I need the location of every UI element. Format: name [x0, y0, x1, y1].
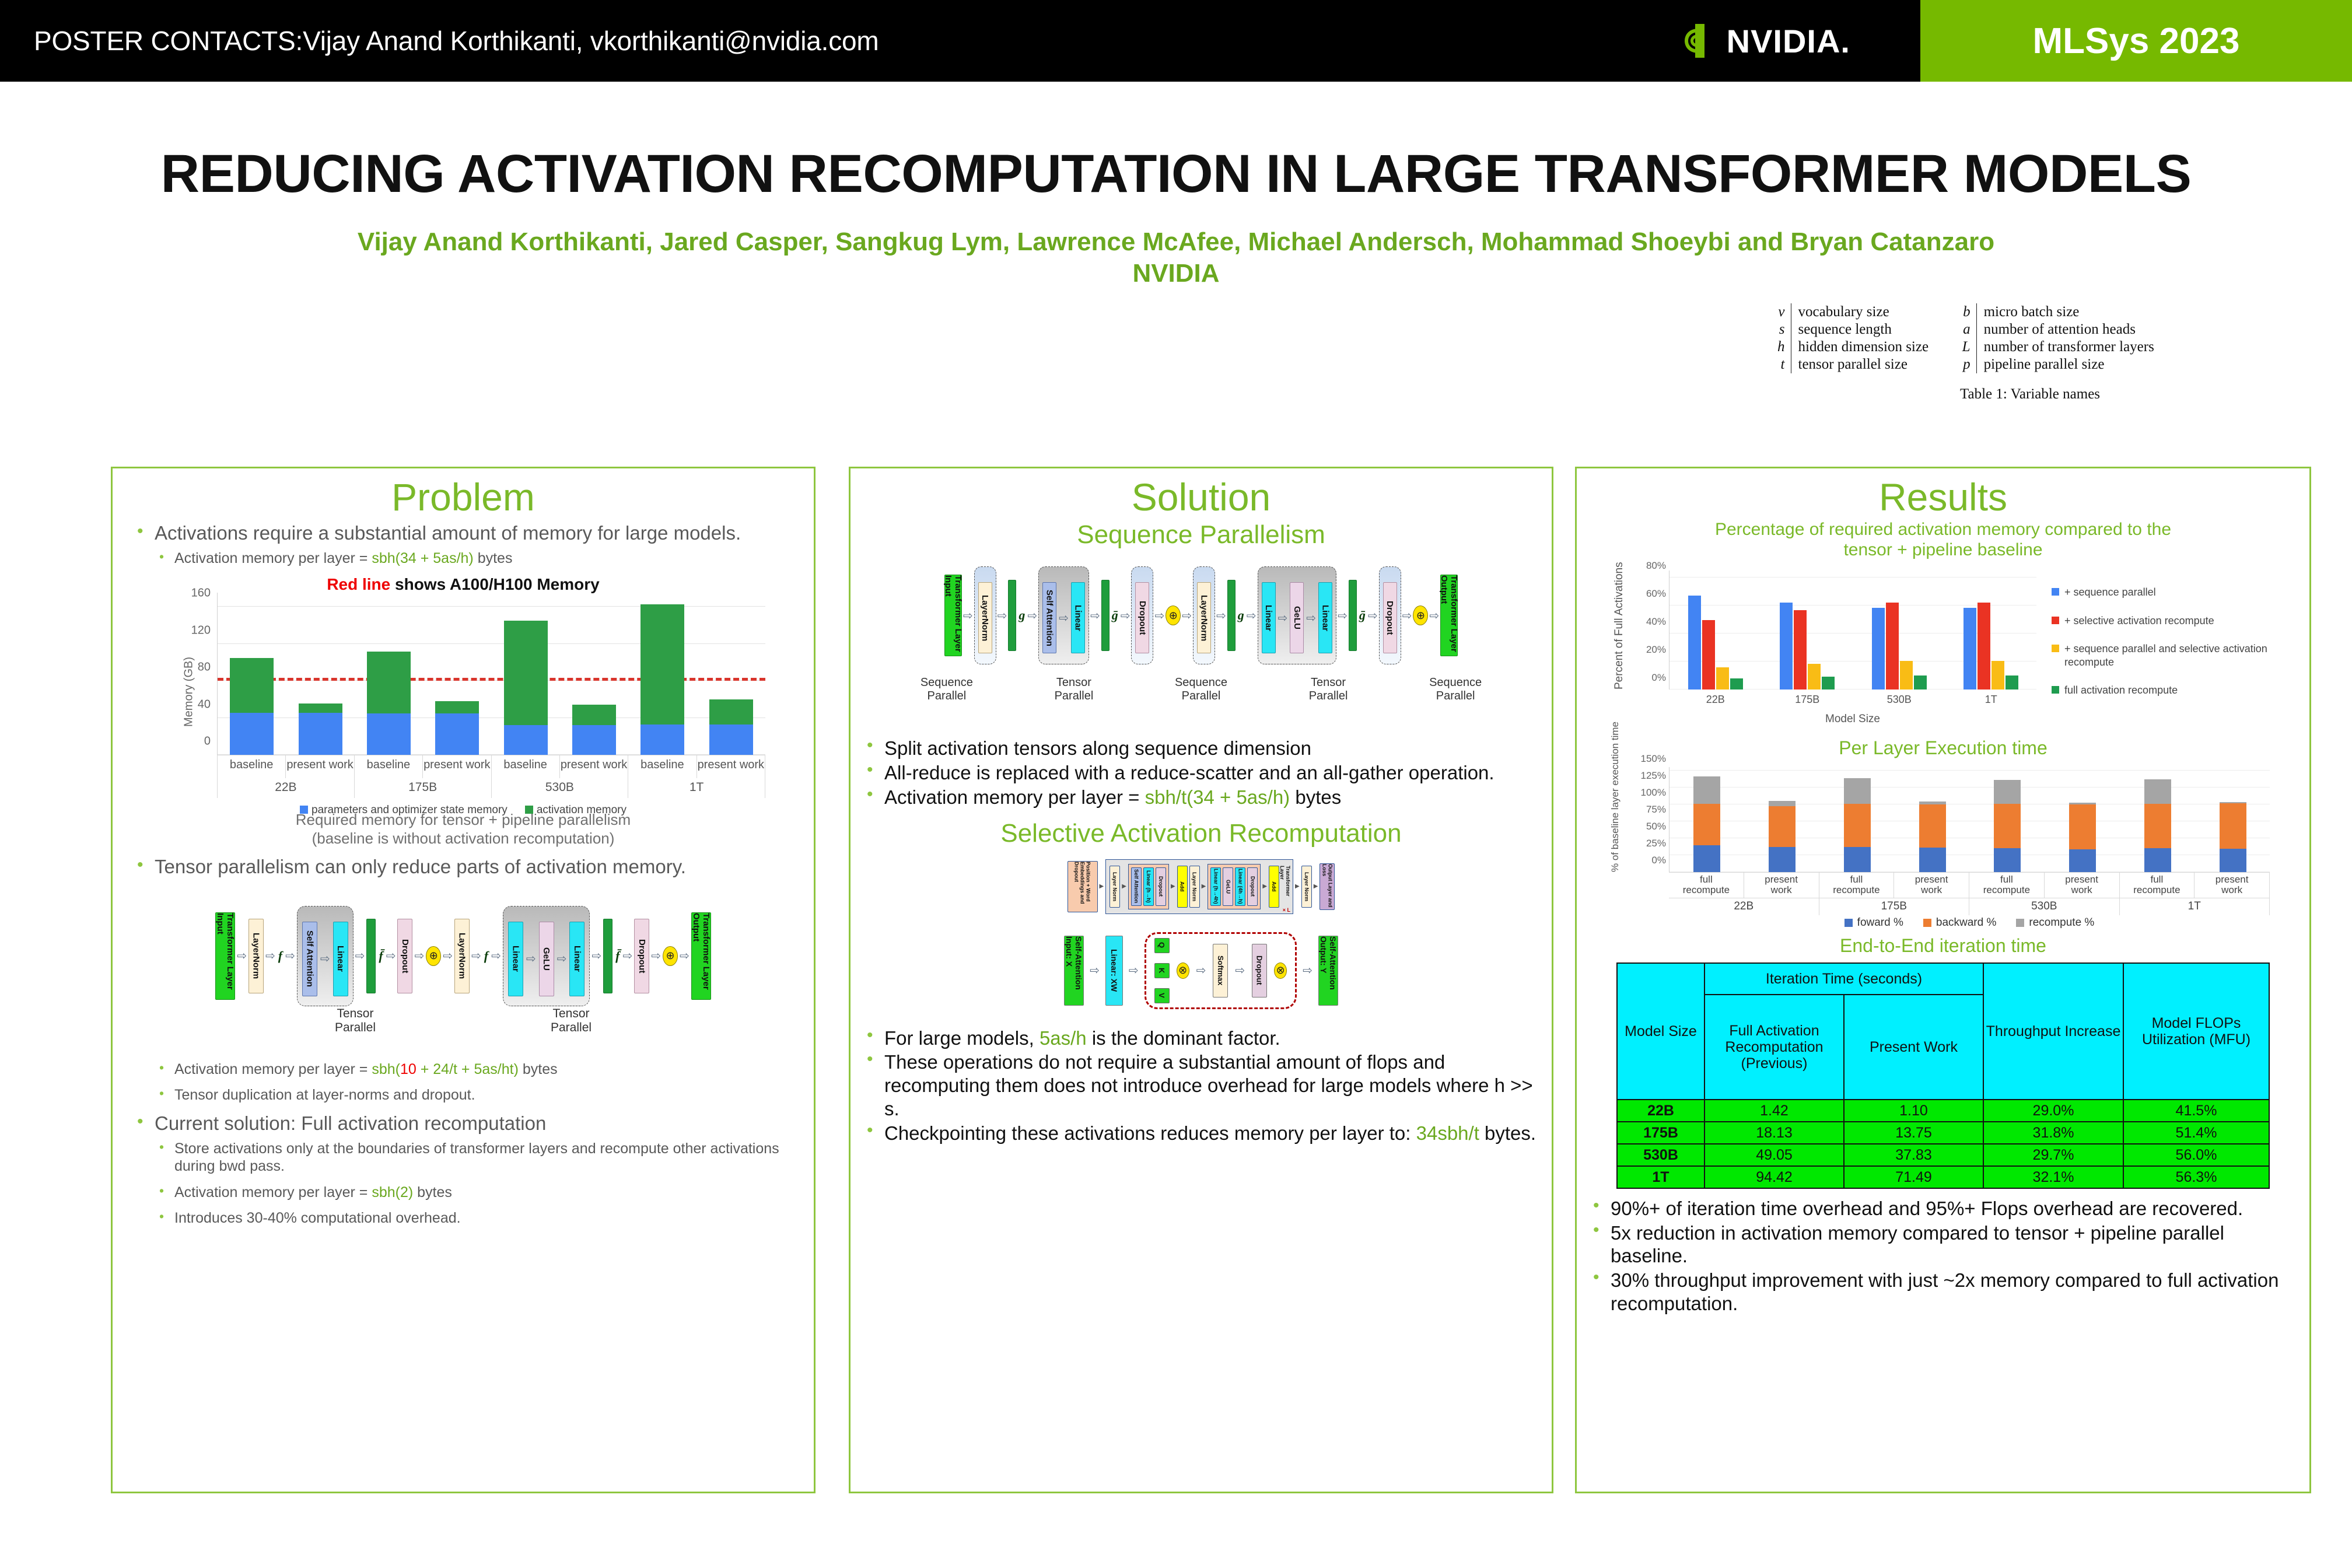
- parallel-region-label: TensorParallel: [1055, 676, 1094, 703]
- cell-throughput: 32.1%: [1983, 1166, 2123, 1188]
- var-symbol: p: [1953, 356, 1976, 373]
- segment-activation-memory: [504, 621, 548, 725]
- linear-block: Linear: [1262, 582, 1276, 653]
- x-tick-line: work: [2194, 885, 2269, 896]
- transformer-layer-input: Transformer Layer Input: [944, 575, 962, 656]
- list-item: For large models, 5as/h is the dominant …: [863, 1027, 1543, 1050]
- list-item: Tensor duplication at layer-norms and dr…: [156, 1086, 803, 1104]
- arrow-icon: ⇨: [1278, 611, 1288, 625]
- bar-group: [1853, 570, 1945, 689]
- results-column: Results Percentage of required activatio…: [1575, 467, 2311, 1493]
- list-item: Activation memory per layer = sbh(10 + 2…: [156, 1060, 803, 1079]
- page-title: REDUCING ACTIVATION RECOMPUTATION IN LAR…: [0, 146, 2352, 202]
- mlp-group: Linear (h→4h)GeLULinear (4h→h)Dropout: [1207, 864, 1261, 909]
- arrow-icon: ⇨: [491, 949, 501, 963]
- title-block: REDUCING ACTIVATION RECOMPUTATION IN LAR…: [0, 146, 2352, 288]
- tensor-parallel-label: TensorParallel: [551, 1007, 591, 1035]
- bar-slot: [423, 593, 491, 755]
- y-tick-label: 80%: [1636, 560, 1666, 572]
- bar--selective-activation-recompute: [1702, 620, 1715, 689]
- bar--sequence-parallel-and-selective-activation-recompute: [1808, 664, 1821, 689]
- bar-slot: [2045, 767, 2120, 872]
- memory-chart-legend: parameters and optimizer state memoryact…: [148, 804, 778, 817]
- x-tick-label: baseline: [492, 755, 560, 778]
- affiliation: NVIDIA: [0, 259, 2352, 288]
- results-chart2-title: Per Layer Execution time: [1577, 737, 2309, 759]
- segment-parameter-memory: [435, 713, 479, 755]
- stacked-bar: [709, 699, 753, 755]
- segment-parameter-memory: [572, 725, 616, 755]
- nvidia-logo: NVIDIA.: [1681, 22, 1850, 60]
- x-tick-label: baseline: [217, 755, 286, 778]
- arrow-icon: ⇨: [1402, 608, 1412, 623]
- legend-swatch: [300, 806, 308, 814]
- x-tick-line: full: [2120, 874, 2194, 885]
- x-tick-line: work: [2045, 885, 2119, 896]
- arrow-icon: ⇨: [1247, 608, 1256, 623]
- y-tick-label: 125%: [1633, 770, 1666, 782]
- bar-slot: [1669, 767, 1745, 872]
- y-tick-label: 75%: [1633, 804, 1666, 815]
- bar--sequence-parallel: [1872, 608, 1885, 689]
- tensor-parallel-group-attention: Self Attention⇨Linear: [297, 906, 353, 1006]
- results-heading: Results: [1577, 478, 2309, 516]
- x-tick-line: present: [2045, 874, 2119, 885]
- text-suffix: is the dominant factor.: [1087, 1027, 1280, 1049]
- formula-part2: + 24/t + 5as/ht): [416, 1061, 519, 1077]
- legend-label: recompute %: [2029, 916, 2094, 929]
- bar--sequence-parallel-and-selective-activation-recompute: [1900, 661, 1913, 689]
- y-tick-label: 0%: [1633, 855, 1666, 866]
- f-operator: f: [277, 949, 283, 964]
- list-item: Introduces 30-40% computational overhead…: [156, 1209, 803, 1227]
- cell-model-size: 175B: [1617, 1122, 1704, 1144]
- table-row: t tensor parallel size p pipeline parall…: [1767, 356, 2179, 373]
- y-tick-label: 150%: [1633, 753, 1666, 765]
- segment-recompute: [1844, 778, 1871, 804]
- bar--sequence-parallel: [1688, 596, 1701, 689]
- var-desc: hidden dimension size: [1791, 338, 1953, 356]
- cell-throughput: 29.0%: [1983, 1100, 2123, 1122]
- qkv-dashed-region: QKV⊗⇨Softmax⇨Dropout⊗: [1144, 932, 1297, 1009]
- list-item: Activation memory per layer = sbh/t(34 +…: [863, 786, 1543, 809]
- table-row: 22B1.421.1029.0%41.5%: [1617, 1100, 2269, 1122]
- legend-swatch: [2052, 686, 2059, 694]
- add-block: Add: [1269, 866, 1279, 908]
- col-header-previous: Full Activation Recomputation (Previous): [1704, 995, 1844, 1100]
- list-item: All-reduce is replaced with a reduce-sca…: [863, 761, 1543, 785]
- problem-subbullets-1: Activation memory per layer = sbh(34 + 5…: [113, 549, 814, 568]
- x-tick-line: full: [1669, 874, 1744, 885]
- arrow-icon: ▶: [1122, 883, 1126, 890]
- var-desc: pipeline parallel size: [1976, 356, 2179, 373]
- linear-block: Linear: [333, 922, 348, 996]
- x-group-label: 175B: [355, 778, 492, 798]
- list-item: 30% throughput improvement with just ~2x…: [1590, 1269, 2301, 1315]
- arrow-icon: ⇨: [443, 949, 453, 963]
- segment-backward: [1769, 806, 1796, 847]
- arrow-icon: ▶: [1262, 883, 1267, 890]
- col-header-throughput: Throughput Increase: [1983, 963, 2123, 1100]
- text-prefix: Checkpointing these activations reduces …: [884, 1122, 1416, 1144]
- arrow-icon: ⇨: [1129, 963, 1139, 978]
- list-item: These operations do not require a substa…: [863, 1051, 1543, 1121]
- x-axis-categories: fullrecomputepresentworkfullrecomputepre…: [1669, 872, 2270, 898]
- comm-marker: [1227, 580, 1235, 651]
- times-L-label: × L: [1283, 907, 1290, 913]
- bar--selective-activation-recompute: [1978, 603, 1990, 689]
- q-block: Q: [1154, 938, 1170, 953]
- solution-bullets-2: For large models, 5as/h is the dominant …: [850, 1027, 1552, 1146]
- arrow-icon: ⇨: [471, 949, 481, 963]
- stacked-bar: [367, 652, 411, 755]
- results-bullets: 90%+ of iteration time overhead and 95%+…: [1577, 1197, 2309, 1316]
- diagram-row: Self-Attention Input: X⇨Linear: XW⇨QKV⊗⇨…: [1064, 932, 1338, 1009]
- end-to-end-iteration-table: Model Size Iteration Time (seconds) Thro…: [1616, 963, 2270, 1189]
- formula-prefix: Activation memory per layer =: [174, 1061, 372, 1077]
- f-bar-operator: f̄: [377, 949, 384, 964]
- stacked-bar: [504, 621, 548, 755]
- bar-slot: [628, 593, 696, 755]
- segment-activation-memory: [435, 701, 479, 713]
- segment-activation-memory: [367, 652, 411, 713]
- sequence-parallel-group-4: Dropout: [1379, 566, 1401, 664]
- transformer-layer-output: Transformer Layer Output: [691, 912, 711, 1000]
- x-group-label: 1T: [2120, 898, 2270, 915]
- sequence-parallelism-subheading: Sequence Parallelism: [850, 521, 1552, 549]
- arrow-icon: ⇨: [622, 949, 632, 963]
- cell-model-size: 22B: [1617, 1100, 1704, 1122]
- legend-item: + sequence parallel: [2052, 586, 2285, 599]
- dropout-block: Dropout: [397, 919, 412, 993]
- matmul-qk-node: ⊗: [1177, 963, 1189, 979]
- cell-model-size: 530B: [1617, 1144, 1704, 1166]
- var-symbol: s: [1767, 321, 1791, 338]
- nvidia-wordmark: NVIDIA.: [1727, 22, 1850, 60]
- x-tick-line: present: [2194, 874, 2269, 885]
- label-line: Tensor: [1055, 676, 1094, 689]
- x-group-label: 22B: [217, 778, 355, 798]
- layernorm-block: LayerNorm: [454, 919, 470, 993]
- arrow-icon: ⇨: [557, 951, 567, 966]
- bar-full-activation-recompute: [1730, 678, 1743, 689]
- label-line: Parallel: [921, 689, 973, 703]
- segment-forward: [1693, 845, 1720, 872]
- layer-norm-block: Layer Norm: [1109, 866, 1120, 908]
- x-tick-label: 22B: [1669, 694, 1762, 706]
- segment-backward: [1693, 804, 1720, 845]
- bar-slot: [1820, 767, 1895, 872]
- x-axis-title: Model Size: [1669, 713, 2036, 726]
- col-header-mfu: Model FLOPs Utilization (MFU): [2123, 963, 2269, 1100]
- bar--selective-activation-recompute: [1794, 610, 1807, 689]
- chart-legend: foward %backward %recompute %: [1669, 916, 2270, 929]
- legend-item: parameters and optimizer state memory: [300, 804, 508, 817]
- x-tick-label: presentwork: [2045, 873, 2120, 898]
- self-attention-output: Self-Attention Output: Y: [1318, 936, 1338, 1006]
- arrow-icon: ⇨: [1429, 608, 1439, 623]
- label-line: Parallel: [1055, 689, 1094, 703]
- cell-throughput: 31.8%: [1983, 1122, 2123, 1144]
- segment-forward: [2144, 848, 2171, 872]
- x-tick-label: 1T: [1945, 694, 2038, 706]
- chart1-title-line2: tensor + pipeline baseline: [1577, 540, 2309, 561]
- linear-block: Linear: [1071, 582, 1085, 653]
- x-tick-label: 175B: [1762, 694, 1854, 706]
- cell-present: 37.83: [1844, 1144, 1983, 1166]
- list-item: Activation memory per layer = sbh(34 + 5…: [156, 549, 803, 568]
- solution-bullets-1: Split activation tensors along sequence …: [850, 737, 1552, 809]
- x-group-label: 175B: [1819, 898, 1970, 915]
- table-row: 1T94.4271.4932.1%56.3%: [1617, 1166, 2269, 1188]
- legend-swatch: [2016, 919, 2024, 927]
- stacked-bar: [1769, 801, 1796, 871]
- bar--sequence-parallel: [1964, 608, 1976, 689]
- list-item: 5x reduction in activation memory compar…: [1590, 1221, 2301, 1268]
- arrow-icon: ⇨: [285, 949, 295, 963]
- stacked-bar: [640, 604, 684, 755]
- k-block: K: [1154, 963, 1170, 978]
- sequence-parallel-group-2: Dropout: [1131, 566, 1153, 664]
- banner-left-black: POSTER CONTACTS:Vijay Anand Korthikanti,…: [0, 0, 1920, 82]
- dropout-block: Dropout: [1252, 944, 1267, 998]
- y-tick-label: 25%: [1633, 838, 1666, 849]
- dropout-block: Dropout: [1135, 582, 1149, 653]
- gelu-block: GeLU: [1223, 867, 1233, 906]
- layernorm-block: LayerNorm: [249, 919, 264, 993]
- arrow-icon: ⇨: [1059, 611, 1069, 625]
- arrow-icon: ⇨: [1306, 611, 1316, 625]
- label-line-1: Tensor: [335, 1007, 376, 1021]
- arrow-icon: ⇨: [386, 949, 396, 963]
- residual-add-node: ⊕: [1165, 605, 1181, 625]
- bar-container: [218, 593, 765, 755]
- var-desc: micro batch size: [1976, 303, 2179, 321]
- segment-parameter-memory: [230, 713, 274, 755]
- bar-full-activation-recompute: [1822, 677, 1835, 689]
- bar--selective-activation-recompute: [1886, 603, 1899, 689]
- g-bar-operator: ḡ: [1358, 608, 1367, 623]
- formula-prefix: Activation memory per layer =: [884, 786, 1145, 808]
- top-banner: POSTER CONTACTS:Vijay Anand Korthikanti,…: [0, 0, 2352, 82]
- memory-chart-plot: 04080120160: [217, 593, 765, 755]
- bar-slot: [492, 593, 560, 755]
- legend-label: activation memory: [537, 804, 626, 816]
- x-tick-line: work: [1894, 885, 1969, 896]
- segment-activation-memory: [299, 703, 342, 713]
- qkv-column: QKV: [1154, 938, 1170, 1003]
- table-body: 22B1.421.1029.0%41.5%175B18.1313.7531.8%…: [1617, 1100, 2269, 1188]
- self-attention-block: Self Attention: [1042, 582, 1056, 653]
- v-block: V: [1154, 988, 1170, 1003]
- stacked-bar: [1844, 778, 1871, 872]
- segment-forward: [1919, 848, 1946, 872]
- segment-activation-memory: [572, 705, 616, 725]
- arrow-icon: ⇨: [998, 608, 1007, 623]
- linear-h-to-4h-block: Linear (h→4h): [1210, 867, 1221, 906]
- table-row: 175B18.1313.7531.8%51.4%: [1617, 1122, 2269, 1144]
- formula: sbh(34 + 5as/h): [372, 550, 473, 566]
- x-tick-line: full: [1969, 874, 2044, 885]
- linear-block: Linear: [569, 922, 584, 996]
- legend-item: activation memory: [525, 804, 626, 817]
- x-tick-label: presentwork: [1894, 873, 1969, 898]
- stacked-bar: [2144, 779, 2171, 871]
- arrow-icon: ⇨: [1027, 608, 1037, 623]
- formula-suffix: bytes: [519, 1061, 558, 1077]
- attention-group: Self AttentionLinear (h→h)Dropout: [1128, 864, 1169, 909]
- add-block: Add: [1177, 866, 1188, 908]
- g-operator: g: [1237, 608, 1245, 623]
- comm-marker: [1101, 580, 1109, 651]
- list-item: Split activation tensors along sequence …: [863, 737, 1543, 760]
- arrow-icon: ▶: [1314, 883, 1318, 890]
- caption-line-2: (baseline is without activation recomput…: [113, 829, 814, 848]
- list-item: Tensor parallelism can only reduce parts…: [132, 856, 800, 878]
- arrow-icon: ⇨: [1121, 608, 1130, 623]
- list-item: 90%+ of iteration time overhead and 95%+…: [1590, 1197, 2301, 1220]
- tensor-parallel-group-mlp: Linear⇨GeLU⇨Linear: [503, 906, 590, 1006]
- legend-item: foward %: [1845, 916, 1903, 929]
- x-tick-line: recompute: [1969, 885, 2044, 896]
- x-tick-label: presentwork: [2194, 873, 2270, 898]
- segment-parameter-memory: [299, 713, 342, 755]
- var-symbol: a: [1953, 321, 1976, 338]
- var-symbol: L: [1953, 338, 1976, 356]
- cell-present: 13.75: [1844, 1122, 1983, 1144]
- table-row: 530B49.0537.8329.7%56.0%: [1617, 1144, 2269, 1166]
- dropout-block: Dropout: [1156, 867, 1166, 906]
- stacked-bar: [1693, 776, 1720, 872]
- segment-parameter-memory: [709, 724, 753, 755]
- residual-add-node: ⊕: [426, 946, 441, 966]
- segment-parameter-memory: [504, 725, 548, 755]
- poster-contacts-label: POSTER CONTACTS:: [34, 26, 303, 56]
- f-bar-operator: f̄: [614, 949, 621, 964]
- cell-mfu: 56.3%: [2123, 1166, 2269, 1188]
- parallel-region-label: SequenceParallel: [1429, 676, 1482, 703]
- problem-bullets-mid: Tensor parallelism can only reduce parts…: [113, 856, 814, 878]
- legend-item: backward %: [1923, 916, 1997, 929]
- parallel-region-label: SequenceParallel: [921, 676, 973, 703]
- arrow-icon: ⇨: [1182, 608, 1192, 623]
- sequence-parallel-group-1: LayerNorm: [974, 566, 996, 664]
- segment-backward: [1919, 804, 1946, 848]
- segment-forward: [1844, 847, 1871, 872]
- tensor-parallel-label: TensorParallel: [335, 1007, 376, 1035]
- selective-recompute-diagram: Position + Word Embeddings and Dropout▶L…: [856, 852, 1546, 922]
- cell-present: 1.10: [1844, 1100, 1983, 1122]
- chart1-title-line1: Percentage of required activation memory…: [1577, 520, 2309, 540]
- y-tick-label: 0%: [1636, 672, 1666, 684]
- arrow-icon: ⇨: [526, 951, 536, 966]
- diagram-row: Transformer Layer Input⇨LayerNorm⇨g⇨Self…: [856, 557, 1546, 674]
- x-tick-line: full: [1819, 874, 1894, 885]
- segment-activation-memory: [640, 604, 684, 725]
- legend-label: full activation recompute: [2064, 684, 2178, 697]
- chart-plot: 0%25%50%75%100%125%150%: [1669, 767, 2270, 872]
- linear-block: Linear: [508, 922, 523, 996]
- residual-add-node: ⊕: [1413, 605, 1428, 625]
- arrow-icon: ▶: [1295, 883, 1300, 890]
- bar-slot: [218, 593, 286, 755]
- segment-parameter-memory: [640, 724, 684, 755]
- stacked-bar: [1919, 801, 1946, 872]
- cell-mfu: 51.4%: [2123, 1122, 2269, 1144]
- segment-forward: [1769, 847, 1796, 872]
- position-word-embeddings-block: Position + Word Embeddings and Dropout: [1067, 861, 1098, 912]
- linear-block: Linear: [1318, 582, 1332, 653]
- segment-recompute: [1994, 780, 2021, 804]
- label-line: Parallel: [1309, 689, 1348, 703]
- var-desc: sequence length: [1791, 321, 1953, 338]
- sequence-parallel-group-3: LayerNorm: [1193, 566, 1215, 664]
- parallel-region-labels: SequenceParallelTensorParallelSequencePa…: [856, 676, 1546, 703]
- segment-recompute: [1769, 801, 1796, 806]
- var-desc: vocabulary size: [1791, 303, 1953, 321]
- arrow-icon: ⇨: [1303, 963, 1312, 978]
- stacked-bar: [299, 703, 342, 755]
- dropout-block: Dropout: [1247, 867, 1258, 906]
- x-tick-label: fullrecompute: [1969, 873, 2045, 898]
- legend-swatch: [525, 806, 533, 814]
- solution-column: Solution Sequence Parallelism Transforme…: [849, 467, 1553, 1493]
- formula-part1: sbh(: [372, 1061, 400, 1077]
- formula-highlight: 10: [400, 1061, 416, 1077]
- layernorm-block: LayerNorm: [1197, 582, 1211, 653]
- bar-group: [1762, 570, 1854, 689]
- label-line: Parallel: [1175, 689, 1227, 703]
- memory-chart: Red line shows A100/H100 Memory Memory (…: [148, 575, 778, 808]
- legend-swatch: [2052, 645, 2059, 652]
- list-item: Current solution: Full activation recomp…: [132, 1112, 800, 1135]
- arrow-icon: ▶: [1202, 883, 1206, 890]
- cell-previous: 49.05: [1704, 1144, 1844, 1166]
- legend-label: + sequence parallel: [2064, 586, 2156, 599]
- formula: sbh/t(34 + 5as/h): [1145, 786, 1290, 808]
- x-tick-label: fullrecompute: [2120, 873, 2195, 898]
- arrow-icon: ⇨: [320, 951, 330, 966]
- stacked-bar: [2069, 803, 2096, 871]
- y-tick-label: 120: [159, 624, 211, 637]
- cell-model-size: 1T: [1617, 1166, 1704, 1188]
- chart-plot: 0%20%40%60%80%22B175B530B1T: [1669, 570, 2036, 689]
- bar-slot: [1970, 767, 2045, 872]
- x-tick-label: present work: [560, 755, 628, 778]
- legend-label: foward %: [1857, 916, 1903, 929]
- x-tick-line: recompute: [1819, 885, 1894, 896]
- formula: 34sbh/t: [1416, 1122, 1479, 1144]
- arrow-icon: ⇨: [1196, 963, 1206, 978]
- x-axis-groups: 22B175B530B1T: [1669, 898, 2270, 915]
- self-attention-input: Self-Attention Input: X: [1064, 936, 1084, 1006]
- label-line-2: Parallel: [335, 1021, 376, 1035]
- bar--sequence-parallel: [1780, 603, 1793, 689]
- y-tick-label: 40: [159, 698, 211, 711]
- stacked-bar: [230, 658, 274, 755]
- diagram-row: Transformer Layer Input⇨LayerNorm⇨f⇨Self…: [122, 882, 804, 1005]
- list-item: Activations require a substantial amount…: [132, 522, 800, 545]
- formula-suffix: bytes: [1290, 786, 1341, 808]
- transformer-layer-label: Transformer Layer: [1281, 866, 1289, 908]
- attention-detail-diagram: Self-Attention Input: X⇨Linear: XW⇨QKV⊗⇨…: [856, 924, 1546, 1017]
- col-header-model-size: Model Size: [1617, 963, 1704, 1100]
- arrow-icon: ▶: [1100, 883, 1104, 890]
- y-axis-title: % of baseline layer execution time: [1609, 722, 1621, 872]
- arrow-icon: ⇨: [1235, 963, 1245, 978]
- x-tick-label: 530B: [1853, 694, 1945, 706]
- y-tick-label: 0: [159, 735, 211, 748]
